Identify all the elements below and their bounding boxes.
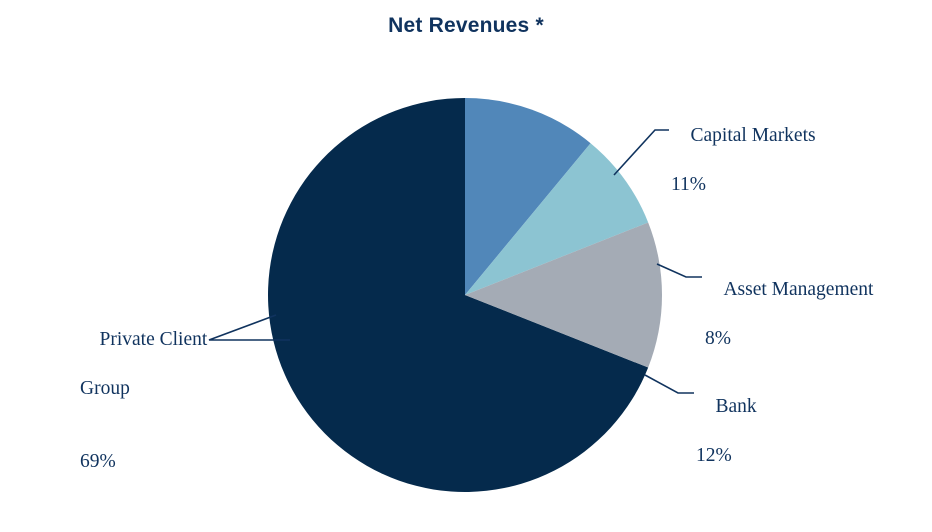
callout-capital-markets-label: Capital Markets <box>691 125 816 146</box>
leader-line-asset-management <box>657 264 702 277</box>
callout-asset-management-label: Asset Management <box>723 279 873 300</box>
callout-asset-management-value: 8% <box>705 327 873 352</box>
callout-capital-markets-value: 11% <box>671 173 816 198</box>
leader-line-capital-markets <box>614 130 669 175</box>
leader-line-bank <box>645 375 694 393</box>
callout-capital-markets: Capital Markets 11% <box>671 99 816 246</box>
callout-private-client-group: Private Client Group 69% <box>80 303 207 524</box>
callout-bank: Bank 12% <box>696 370 757 517</box>
chart-page: Net Revenues * Capital Markets 11% Asset… <box>0 0 932 532</box>
callout-private-client-group-label-line1: Private Client <box>100 329 208 350</box>
callout-private-client-group-label-line2: Group <box>80 377 207 402</box>
callout-bank-value: 12% <box>696 444 757 469</box>
pie-slices <box>268 98 662 492</box>
callout-bank-label: Bank <box>716 396 757 417</box>
callout-private-client-group-value: 69% <box>80 450 207 475</box>
